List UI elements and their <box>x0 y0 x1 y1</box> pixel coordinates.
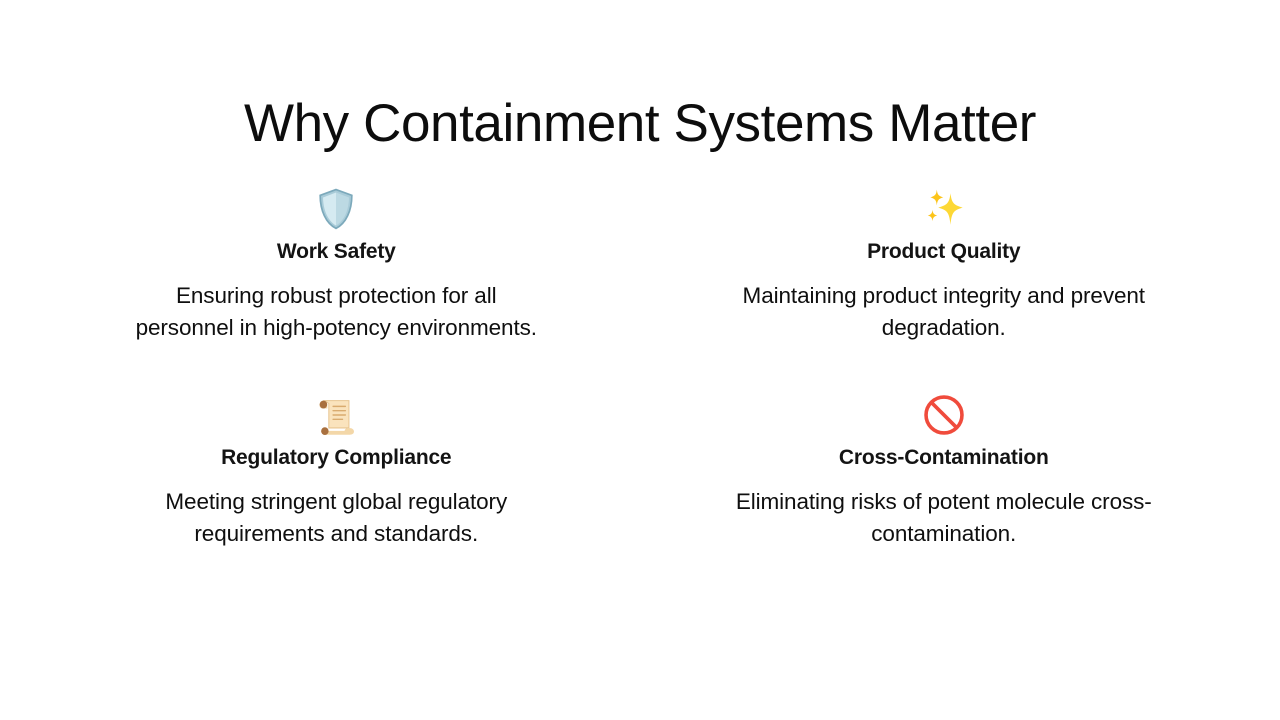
feature-card-product-quality: Product Quality Maintaining product inte… <box>688 186 1201 344</box>
feature-card-regulatory-compliance: Regulatory Compliance Meeting stringent … <box>80 392 593 550</box>
scroll-icon <box>313 392 359 438</box>
feature-card-work-safety: Work Safety Ensuring robust protection f… <box>80 186 593 344</box>
feature-heading: Work Safety <box>277 238 396 266</box>
feature-card-cross-contamination: Cross-Contamination Eliminating risks of… <box>688 392 1201 550</box>
shield-icon <box>313 186 359 232</box>
feature-body: Ensuring robust protection for all perso… <box>126 280 546 344</box>
feature-body: Eliminating risks of potent molecule cro… <box>716 486 1171 550</box>
feature-heading: Product Quality <box>867 238 1020 266</box>
feature-grid: Work Safety Ensuring robust protection f… <box>80 186 1200 550</box>
feature-heading: Regulatory Compliance <box>221 444 451 472</box>
page-title: Why Containment Systems Matter <box>0 88 1280 160</box>
slide-root: Why Containment Systems Matter Work Safe… <box>0 0 1280 720</box>
prohibited-icon <box>921 392 967 438</box>
sparkles-icon <box>921 186 967 232</box>
feature-heading: Cross-Contamination <box>839 444 1049 472</box>
feature-body: Meeting stringent global regulatory requ… <box>106 486 566 550</box>
feature-body: Maintaining product integrity and preven… <box>729 280 1159 344</box>
